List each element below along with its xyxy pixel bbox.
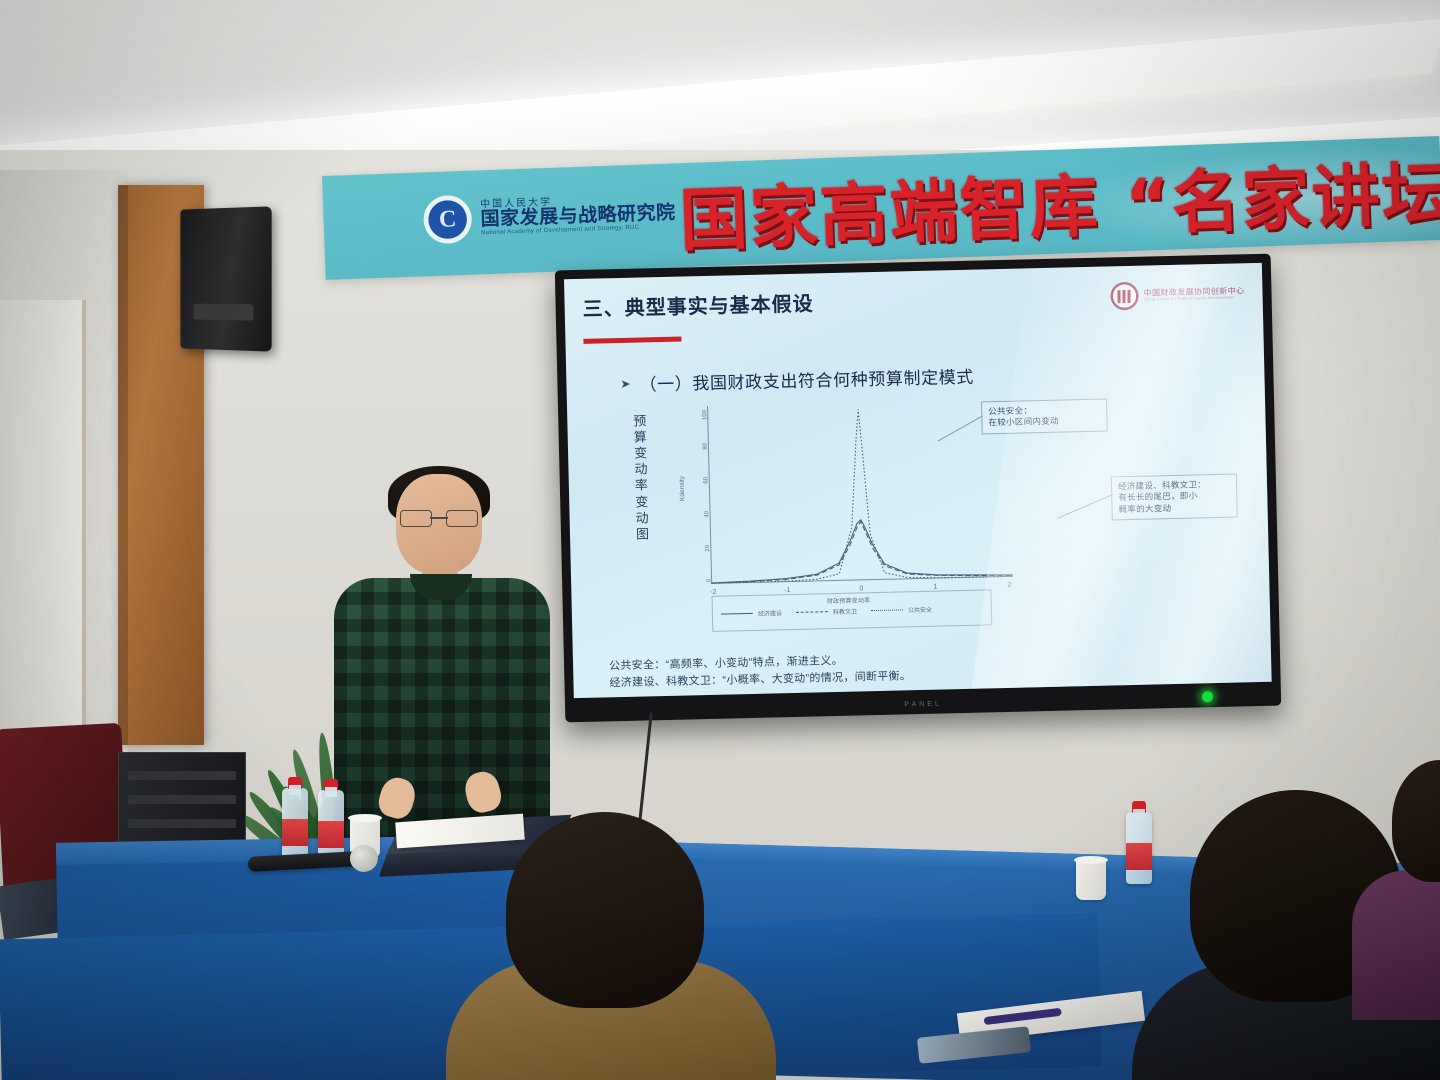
legend-label: 公共安全 <box>908 604 932 614</box>
series-公共安全 <box>707 406 1013 584</box>
center-seal-icon <box>1110 282 1139 311</box>
water-bottle <box>282 788 308 860</box>
density-curves <box>707 399 1013 584</box>
bottle-neck <box>1133 809 1145 819</box>
bottle-label <box>1126 843 1152 870</box>
series-经济建设 <box>710 516 1013 583</box>
audience-member-far-right-body <box>1352 870 1440 1020</box>
slide-footnotes: 公共安全：“高频率、小变动”特点，渐进主义。 经济建设、科教文卫：“小概率、大变… <box>609 651 911 691</box>
interactive-display[interactable]: 三、典型事实与基本假设 中国财政发展协同创新中心 China Center fo… <box>555 254 1281 723</box>
chart-callout: 经济建设、科教文卫： 有长长的尾巴，即小 概率的大变动 <box>1111 473 1238 520</box>
x-tick: 2 <box>1007 582 1011 589</box>
chart-vertical-title: 预算变动率变动图 <box>629 413 654 542</box>
display-brand-logo: PANEL <box>904 700 942 708</box>
presenter-plaid-shirt <box>334 578 550 848</box>
door-frame <box>0 300 86 770</box>
glasses-icon <box>400 510 478 525</box>
chart-area: 预算变动率变动图 100 80 60 40 20 0 Kdensity -2 -… <box>585 387 1253 655</box>
bullet-text: （一）我国财政支出符合何种预算制定模式 <box>639 363 974 396</box>
bottle-label <box>282 819 308 846</box>
presenter <box>318 466 568 866</box>
center-logo: 中国财政发展协同创新中心 China Center for Public Fin… <box>1110 279 1244 310</box>
wall-speaker <box>180 206 271 351</box>
speaker-grille <box>193 304 253 321</box>
institution-logo: 中国人民大学 国家发展与战略研究院 National Academy of De… <box>423 187 677 244</box>
y-axis-label: Kdensity <box>679 476 687 501</box>
slide-title-underline <box>583 337 681 344</box>
audience-member-front <box>506 812 704 1008</box>
bullet-arrow-icon: ➤ <box>620 376 630 390</box>
legend-label: 经济建设 <box>758 608 782 618</box>
center-name-en: China Center for Public Finance Developm… <box>1144 296 1245 303</box>
bottle-label <box>318 821 344 848</box>
paper-cup <box>1076 860 1106 900</box>
callout-leader-line <box>1058 494 1113 519</box>
legend-swatch <box>721 612 753 614</box>
display-screen[interactable]: 三、典型事实与基本假设 中国财政发展协同创新中心 China Center fo… <box>564 263 1272 698</box>
pen <box>984 1008 1062 1025</box>
water-bottle <box>1126 812 1152 884</box>
chart-callout: 公共安全： 在较小区间内变动 <box>981 399 1108 435</box>
bottle-neck <box>325 787 337 797</box>
legend-swatch <box>796 611 828 613</box>
lecture-hall-photo: 中国人民大学 国家发展与战略研究院 National Academy of De… <box>0 0 1440 1080</box>
presentation-slide: 三、典型事实与基本假设 中国财政发展协同创新中心 China Center fo… <box>564 263 1272 698</box>
chart-legend: 经济建设 科教文卫 公共安全 <box>711 589 992 632</box>
series-科教文卫 <box>710 518 1013 583</box>
university-seal-icon <box>423 195 473 245</box>
bottle-neck <box>289 785 301 795</box>
legend-label: 科教文卫 <box>833 606 857 616</box>
power-led-indicator <box>1202 691 1213 702</box>
slide-title: 三、典型事实与基本假设 <box>582 287 814 321</box>
legend-swatch <box>871 609 903 611</box>
